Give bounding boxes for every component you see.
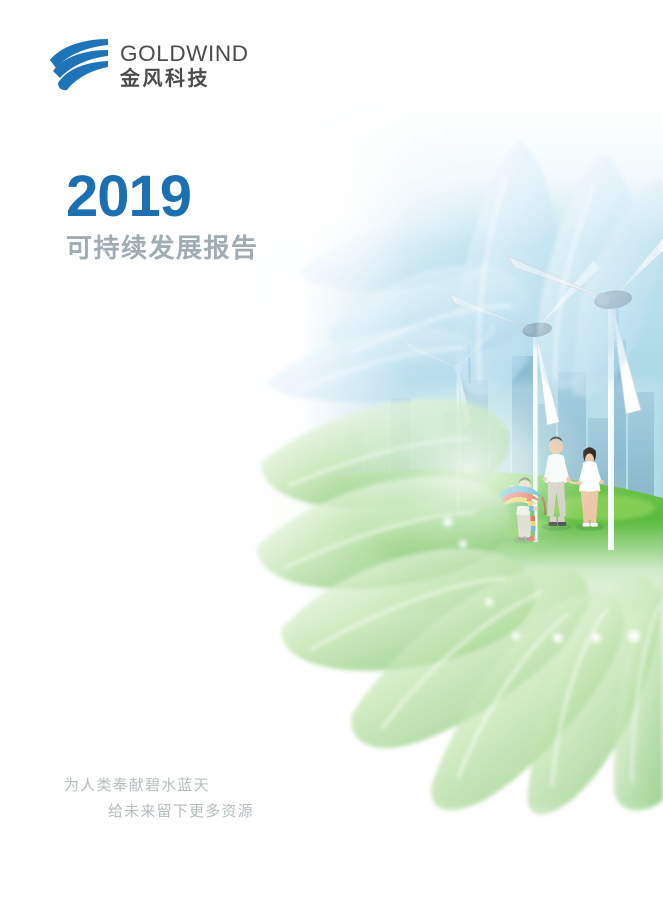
logo-wordmark: GOLDWIND: [120, 42, 249, 66]
goldwind-wing-mark: [48, 38, 110, 92]
cover-tagline: 为人类奉献碧水蓝天 给未来留下更多资源: [64, 772, 254, 825]
left-vignette: [0, 0, 300, 900]
tagline-line-2: 给未来留下更多资源: [64, 798, 254, 824]
brand-logo: GOLDWIND 金风科技: [48, 38, 249, 92]
report-year: 2019: [66, 168, 259, 226]
cover-title-block: 2019 可持续发展报告: [66, 168, 259, 264]
logo-text-group: GOLDWIND 金风科技: [120, 40, 249, 90]
logo-chinese-name: 金风科技: [120, 67, 249, 90]
tagline-line-1: 为人类奉献碧水蓝天: [64, 772, 254, 798]
report-cover-page: GOLDWIND 金风科技 2019 可持续发展报告 为人类奉献碧水蓝天 给未来…: [0, 0, 663, 900]
cover-artwork: [0, 0, 663, 900]
report-subtitle: 可持续发展报告: [66, 235, 259, 264]
